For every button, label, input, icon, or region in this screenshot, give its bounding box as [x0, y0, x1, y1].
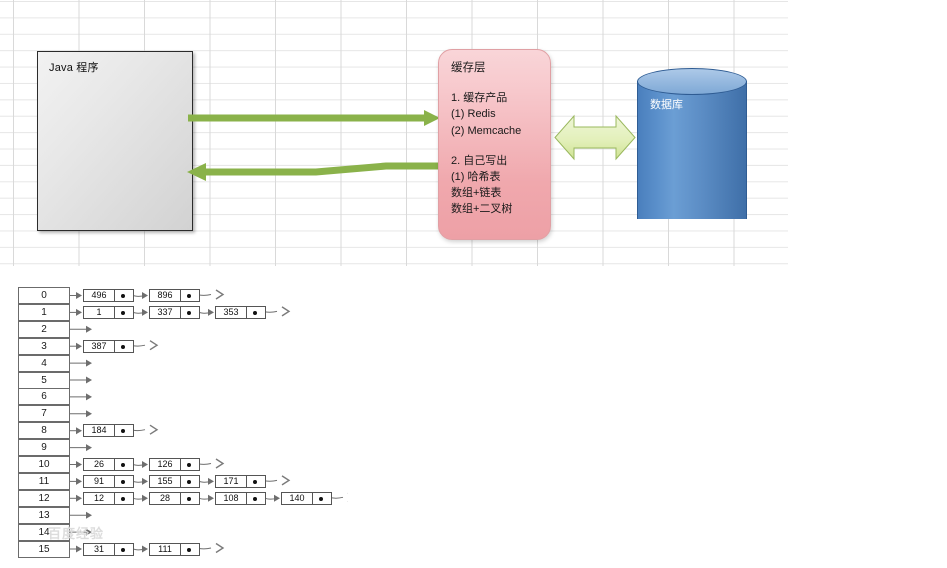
- hash-node-value: 111: [150, 544, 181, 555]
- hash-node-value: 126: [150, 459, 181, 470]
- cache-text-spacer: [451, 139, 544, 153]
- hash-node-value: 26: [84, 459, 115, 470]
- hash-bucket-index[interactable]: 1: [18, 304, 70, 321]
- hash-node-value: 353: [216, 307, 247, 318]
- hash-node-value: 28: [150, 493, 181, 504]
- hash-node-value: 387: [84, 341, 115, 352]
- hash-node[interactable]: 31: [83, 543, 134, 556]
- hash-node-value: 12: [84, 493, 115, 504]
- hash-node-pointer: [115, 544, 133, 555]
- database-label: 数据库: [650, 96, 683, 112]
- hash-node-pointer: [247, 307, 265, 318]
- hash-bucket-index[interactable]: 7: [18, 405, 70, 422]
- java-program-box[interactable]: Java 程序: [37, 51, 193, 231]
- hash-node[interactable]: 896: [149, 289, 200, 302]
- self-written-heading: 2. 自己写出: [451, 153, 544, 169]
- java-to-cache-arrow: [186, 106, 442, 130]
- hash-node[interactable]: 184: [83, 424, 134, 437]
- hash-node-pointer: [181, 493, 199, 504]
- hash-node[interactable]: 140: [281, 492, 332, 505]
- hash-node[interactable]: 28: [149, 492, 200, 505]
- hash-node[interactable]: 155: [149, 475, 200, 488]
- hash-bucket-index[interactable]: 4: [18, 355, 70, 372]
- hash-node-value: 171: [216, 476, 247, 487]
- hash-node[interactable]: 353: [215, 306, 266, 319]
- hash-bucket-index[interactable]: 12: [18, 490, 70, 507]
- hash-node[interactable]: 126: [149, 458, 200, 471]
- cache-product-memcache: (2) Memcache: [451, 123, 544, 139]
- java-program-label: Java 程序: [49, 59, 99, 75]
- hash-bucket-index[interactable]: 8: [18, 422, 70, 439]
- hash-node-value: 155: [150, 476, 181, 487]
- hash-node[interactable]: 496: [83, 289, 134, 302]
- hash-node-value: 496: [84, 290, 115, 301]
- hash-bucket-index[interactable]: 3: [18, 338, 70, 355]
- cylinder-top: [637, 68, 747, 95]
- cache-product-heading: 1. 缓存产品: [451, 90, 544, 106]
- hash-bucket-index[interactable]: 6: [18, 388, 70, 405]
- hash-node-pointer: [181, 476, 199, 487]
- hash-node-pointer: [115, 425, 133, 436]
- hash-node[interactable]: 26: [83, 458, 134, 471]
- cache-layer-box[interactable]: 缓存层 1. 缓存产品 (1) Redis (2) Memcache 2. 自己…: [438, 49, 551, 240]
- hash-node-value: 896: [150, 290, 181, 301]
- hash-bucket-index[interactable]: 0: [18, 287, 70, 304]
- cache-to-java-arrow: [186, 155, 442, 181]
- hash-node-value: 337: [150, 307, 181, 318]
- hash-bucket-index[interactable]: 5: [18, 372, 70, 389]
- hash-node[interactable]: 387: [83, 340, 134, 353]
- hash-node-pointer: [115, 290, 133, 301]
- hash-node-pointer: [115, 493, 133, 504]
- cache-database-double-arrow: [554, 110, 636, 165]
- hash-node-pointer: [115, 307, 133, 318]
- hash-bucket-index[interactable]: 9: [18, 439, 70, 456]
- hash-node[interactable]: 337: [149, 306, 200, 319]
- hash-bucket-index[interactable]: 14: [18, 524, 70, 541]
- cache-layer-title: 缓存层: [451, 60, 544, 76]
- hash-node-value: 184: [84, 425, 115, 436]
- hash-node-value: 108: [216, 493, 247, 504]
- hash-node-pointer: [181, 544, 199, 555]
- hash-node[interactable]: 108: [215, 492, 266, 505]
- hash-bucket-index[interactable]: 2: [18, 321, 70, 338]
- hash-node-value: 31: [84, 544, 115, 555]
- hash-bucket-index[interactable]: 11: [18, 473, 70, 490]
- hash-node-pointer: [247, 493, 265, 504]
- hash-bucket-index[interactable]: 10: [18, 456, 70, 473]
- hash-node-pointer: [181, 307, 199, 318]
- database-cylinder[interactable]: 数据库: [637, 68, 747, 232]
- diagram-canvas: Java 程序 缓存层 1. 缓存产品 (1) Redis (2) Memcac…: [0, 0, 947, 568]
- self-written-array-linkedlist: 数组+链表: [451, 185, 544, 201]
- self-written-array-bintree: 数组+二叉树: [451, 201, 544, 217]
- hash-node[interactable]: 12: [83, 492, 134, 505]
- hash-node-value: 91: [84, 476, 115, 487]
- hash-node[interactable]: 171: [215, 475, 266, 488]
- hash-node-pointer: [247, 476, 265, 487]
- hash-node-value: 140: [282, 493, 313, 504]
- hash-node[interactable]: 91: [83, 475, 134, 488]
- hash-node[interactable]: 1: [83, 306, 134, 319]
- hash-node-pointer: [181, 459, 199, 470]
- self-written-hashtable: (1) 哈希表: [451, 169, 544, 185]
- hash-bucket-index[interactable]: 13: [18, 507, 70, 524]
- cache-product-redis: (1) Redis: [451, 106, 544, 122]
- hash-node-pointer: [181, 290, 199, 301]
- hash-node-pointer: [115, 341, 133, 352]
- hash-node-value: 1: [84, 307, 115, 318]
- hash-node-pointer: [313, 493, 331, 504]
- hash-node-pointer: [115, 459, 133, 470]
- hash-table-diagram: 0496896113373532338745678184910261261191…: [18, 287, 348, 559]
- hash-bucket-index[interactable]: 15: [18, 541, 70, 558]
- hash-node[interactable]: 111: [149, 543, 200, 556]
- hash-node-pointer: [115, 476, 133, 487]
